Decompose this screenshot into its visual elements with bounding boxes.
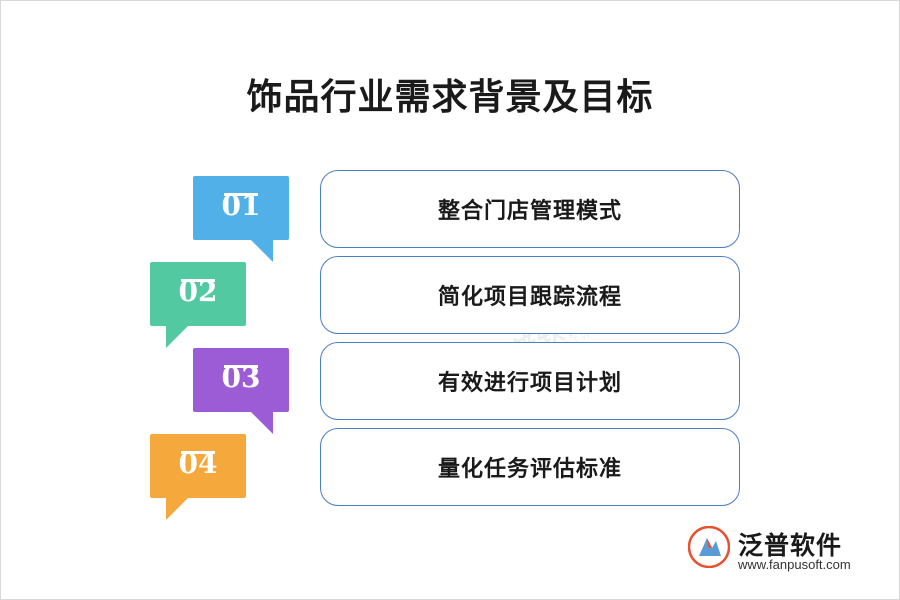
content-box-01: 整合门店管理模式 [320,170,740,248]
content-box-02: 简化项目跟踪流程 [320,256,740,334]
number-tag-label: 04 [150,447,246,480]
brand-logo: 泛普软件 www.fanpusoft.com [688,524,878,578]
number-tag-label: 02 [150,275,246,308]
number-tag-tail [251,240,273,262]
number-tag-tail [166,498,188,520]
content-box-label: 整合门店管理模式 [438,193,622,225]
content-box-label: 简化项目跟踪流程 [438,279,622,311]
number-tag-03: 03 [193,348,289,412]
logo-mark-icon [688,526,730,568]
number-tag-label: 01 [193,189,289,222]
content-box-03: 有效进行项目计划 [320,342,740,420]
content-box-label: 有效进行项目计划 [438,365,622,397]
number-tag-label: 03 [193,361,289,394]
content-box-04: 量化任务评估标准 [320,428,740,506]
number-tag-tail [166,326,188,348]
page-title: 饰品行业需求背景及目标 [0,68,900,120]
number-tag-04: 04 [150,434,246,498]
logo-url: www.fanpusoft.com [738,557,851,572]
content-box-label: 量化任务评估标准 [438,451,622,483]
number-tag-tail [251,412,273,434]
number-tag-01: 01 [193,176,289,240]
number-tag-02: 02 [150,262,246,326]
